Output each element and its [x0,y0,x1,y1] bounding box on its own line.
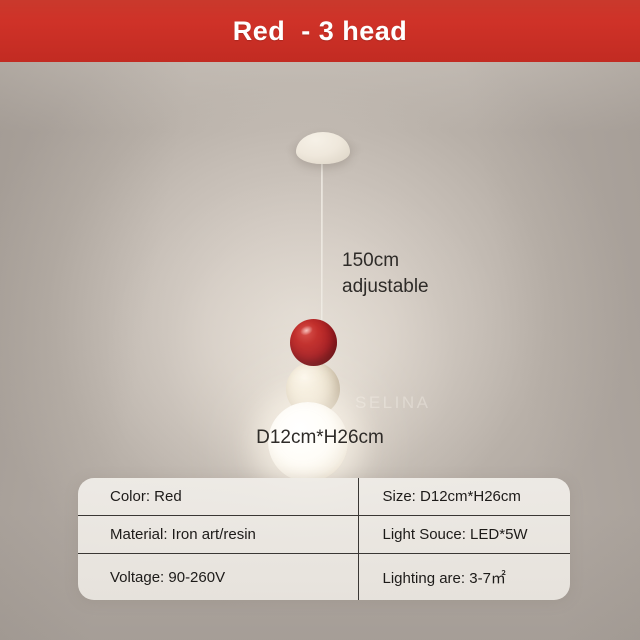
brand-watermark: SELINA [355,393,430,413]
ceiling-band [0,62,640,132]
cord-length-annotation: 150cm adjustable [342,248,429,300]
table-row: Color: Red Size: D12cm*H26cm [78,478,570,515]
suspension-cord [321,161,323,333]
table-row: Material: Iron art/resin Light Souce: LE… [78,515,570,554]
sphere-red [290,319,337,366]
specification-panel: Color: Red Size: D12cm*H26cm Material: I… [78,478,570,600]
spec-material: Material: Iron art/resin [78,515,358,554]
spec-light-source: Light Souce: LED*5W [358,515,570,554]
spec-voltage: Voltage: 90-260V [78,554,358,600]
spec-size: Size: D12cm*H26cm [358,478,570,515]
ceiling-canopy [296,132,350,164]
spec-color: Color: Red [78,478,358,515]
lamp-photo: 150cm adjustable SELINA D12cm*H26cm Colo… [0,62,640,640]
spec-lighting-area: Lighting are: 3-7㎡ [358,554,570,600]
table-row: Voltage: 90-260V Lighting are: 3-7㎡ [78,554,570,600]
variant-title-text: Red - 3 head [233,16,408,47]
variant-title-banner: Red - 3 head [0,0,640,62]
product-detail-image: Red - 3 head 150cm adjustable SELINA D12… [0,0,640,640]
size-caption: D12cm*H26cm [0,427,640,449]
specification-table: Color: Red Size: D12cm*H26cm Material: I… [78,478,570,600]
